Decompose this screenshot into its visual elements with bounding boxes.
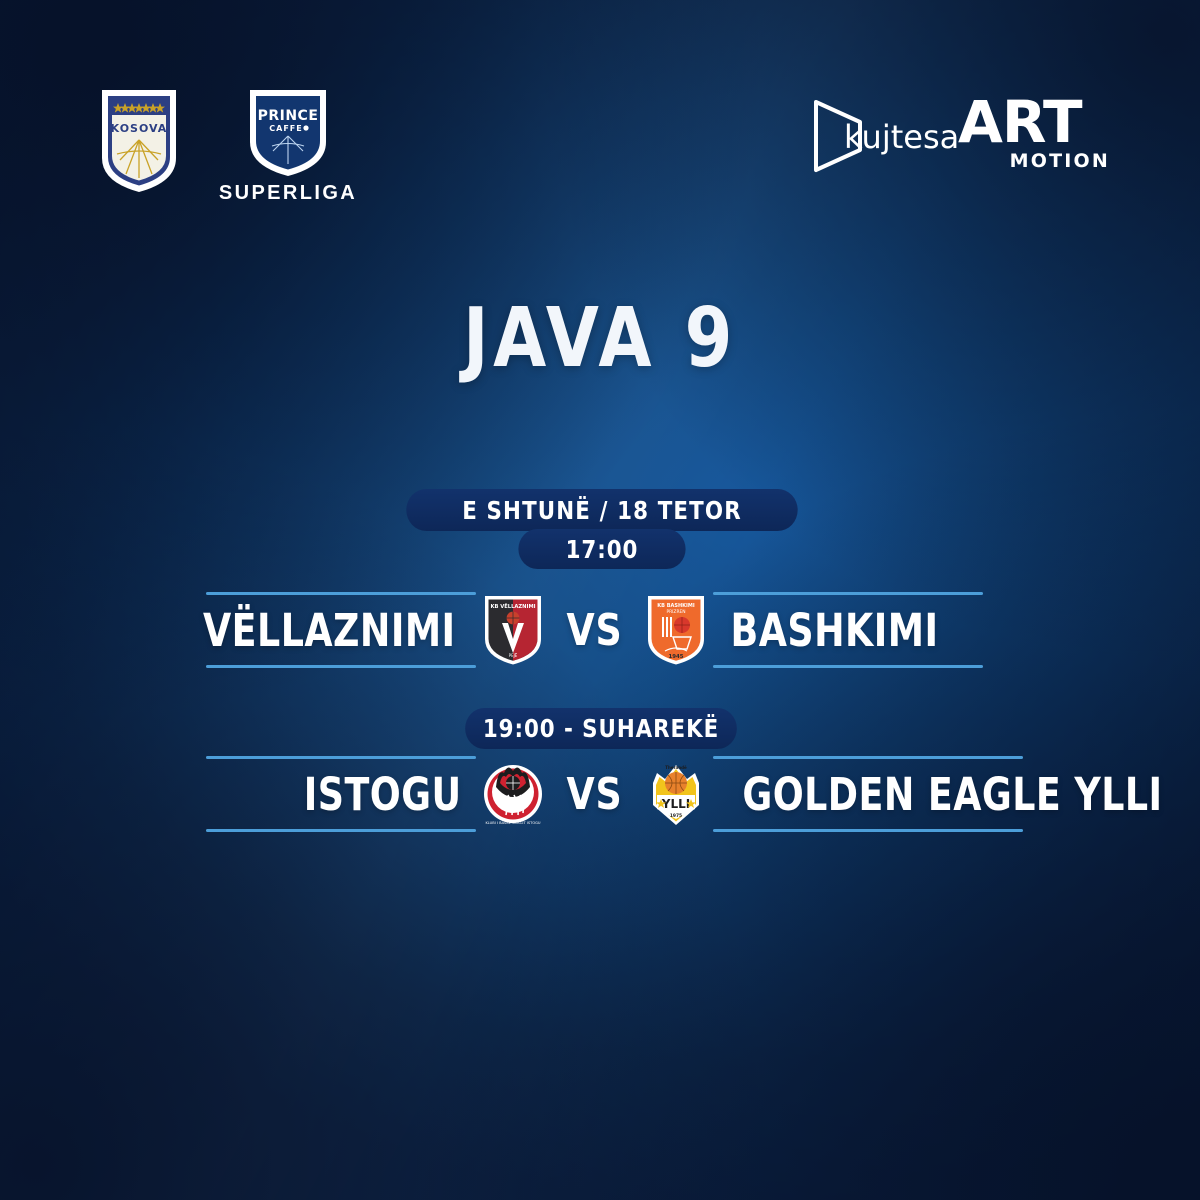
svg-text:Therandë: Therandë <box>665 765 687 770</box>
golden-eagle-ylli-crest: Therandë YLLI 1975 <box>645 757 707 831</box>
away-team-name: BASHKIMI <box>731 604 939 657</box>
svg-text:kujtesa: kujtesa <box>844 118 959 156</box>
poster-content: KOSOVA PRINCE CAFFE <box>0 0 1200 1200</box>
versus-label: VS <box>566 605 622 656</box>
svg-text:KLUBI I BASKETBOLLIT ISTOGU: KLUBI I BASKETBOLLIT ISTOGU <box>485 821 540 825</box>
kb-bashkimi-prizren-crest: KB BASHKIMI PRIZREN 1945 <box>645 593 707 667</box>
svg-text:KB VËLLAZNIMI: KB VËLLAZNIMI <box>490 603 535 610</box>
home-team-name: ISTOGU <box>303 768 461 821</box>
match-row: ISTOGU KLUBI I BASKETBOLLIT ISTOGU VS <box>0 748 1200 840</box>
versus-label: VS <box>566 769 622 820</box>
art-motion-logo: ART MOTION <box>958 98 1110 178</box>
kb-vellaznimi-crest: KB VËLLAZNIMI PEJË <box>482 593 544 667</box>
svg-text:PEJË: PEJË <box>509 653 518 658</box>
home-team-name: VËLLAZNIMI <box>203 604 456 657</box>
svg-text:KOSOVA: KOSOVA <box>111 122 168 135</box>
home-team: ISTOGU <box>206 748 476 840</box>
art-motion-art-text: ART <box>958 98 1110 148</box>
home-team: VËLLAZNIMI <box>206 584 476 676</box>
superliga-label: SUPERLIGA <box>210 182 366 205</box>
away-team: GOLDEN EAGLE YLLI <box>713 748 1023 840</box>
svg-text:1945: 1945 <box>669 654 684 660</box>
prince-caffe-shield: PRINCE CAFFE <box>236 84 340 180</box>
away-team-name: GOLDEN EAGLE YLLI <box>743 768 1163 821</box>
svg-text:YLLI: YLLI <box>661 797 690 811</box>
away-team: BASHKIMI <box>713 584 983 676</box>
kujtesa-play-logo: kujtesa <box>808 96 938 176</box>
svg-text:PRINCE: PRINCE <box>258 108 319 124</box>
header: KOSOVA PRINCE CAFFE <box>0 0 1200 230</box>
kosova-federation-crest: KOSOVA <box>98 84 180 196</box>
svg-text:KB BASHKIMI: KB BASHKIMI <box>657 603 695 609</box>
kb-istogu-crest: KLUBI I BASKETBOLLIT ISTOGU <box>482 757 544 831</box>
svg-text:1975: 1975 <box>670 813 682 819</box>
page-title: JAVA 9 <box>42 291 1158 386</box>
match-row: VËLLAZNIMI KB VËLLAZNIMI PEJË VS <box>0 584 1200 676</box>
match-date-banner: E SHTUNË / 18 TETOR <box>406 489 797 531</box>
match-time-location-banner: 19:00 - SUHAREKË <box>465 708 737 749</box>
match-time-banner: 17:00 <box>518 529 685 569</box>
svg-text:CAFFE: CAFFE <box>269 124 302 133</box>
svg-text:PRIZREN: PRIZREN <box>667 609 686 615</box>
